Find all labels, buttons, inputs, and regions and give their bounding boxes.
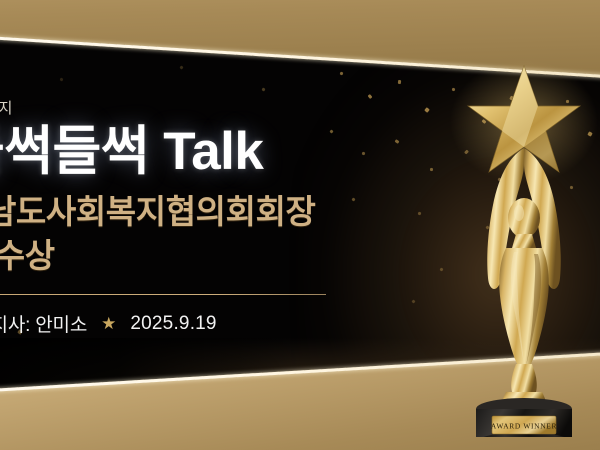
trophy-head [508, 198, 540, 238]
text-content: 사회복지 들썩들썩 Talk 상남도사회복지협의회회장 창 수상 활복지사: 안… [0, 100, 476, 337]
award-date: 2025.9.19 [130, 313, 216, 335]
star-icon: ★ [101, 315, 116, 332]
footer-meta: 활복지사: 안미소 ★ 2025.9.19 [0, 310, 476, 337]
page-title: 들썩들썩 Talk [0, 124, 476, 179]
trophy-neck [512, 234, 536, 248]
subtitle-line-2: 창 수상 [0, 236, 476, 276]
subtitle-line-1: 상남도사회복지협의회회장 [0, 192, 476, 232]
eyebrow-label: 사회복지 [0, 100, 476, 118]
trophy-legs [511, 364, 537, 392]
plaque-label: AWARD WINNER [491, 422, 557, 431]
gold-divider [0, 294, 326, 296]
trophy-plaque: AWARD WINNER [491, 416, 557, 434]
award-card: AWARD WINNER 사회복지 들썩들썩 Talk 상남도사회복지협의회회장… [0, 0, 600, 450]
trophy-torso [499, 248, 549, 374]
presenter-name: 활복지사: 안미소 [0, 310, 87, 337]
